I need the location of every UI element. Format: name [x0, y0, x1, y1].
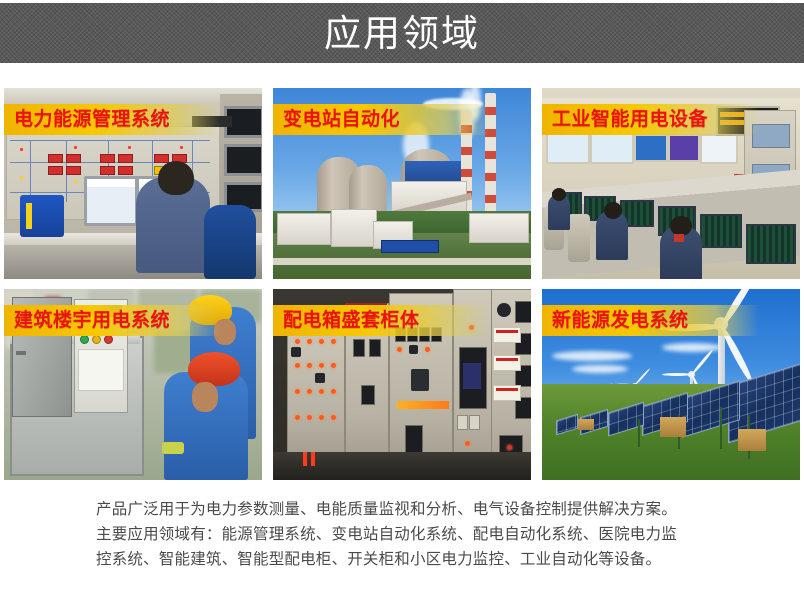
application-tile-grid: 电力能源管理系统 [4, 88, 800, 480]
tile-caption: 配电箱盛套柜体 [273, 305, 490, 336]
page-title: 应用领域 [324, 15, 480, 52]
description-paragraph: 产品广泛用于为电力参数测量、电能质量监视和分析、电气设备控制提供解决方案。 主要… [96, 497, 736, 572]
tile-caption: 工业智能用电设备 [542, 104, 759, 135]
description-line-3: 控系统、智能建筑、智能型配电柜、开关柜和小区电力监控、工业自动化等设备。 [96, 547, 736, 572]
description-line-1: 产品广泛用于为电力参数测量、电能质量监视和分析、电气设备控制提供解决方案。 [96, 497, 736, 522]
tile-distribution-box-cabinet[interactable]: 配电箱盛套柜体 [273, 289, 531, 480]
tile-caption: 建筑楼宇用电系统 [4, 305, 221, 336]
description-line-2: 主要应用领域有：能源管理系统、变电站自动化系统、配电自动化系统、医院电力监 [96, 522, 736, 547]
tile-new-energy-power-generation-system[interactable]: 新能源发电系统 [542, 289, 800, 480]
tile-industrial-smart-power-equipment[interactable]: 工业智能用电设备 [542, 88, 800, 279]
tile-power-energy-management-system[interactable]: 电力能源管理系统 [4, 88, 262, 279]
tile-caption: 新能源发电系统 [542, 305, 759, 336]
tile-building-electricity-system[interactable]: 建筑楼宇用电系统 [4, 289, 262, 480]
tile-caption: 变电站自动化 [273, 104, 490, 135]
tile-caption: 电力能源管理系统 [4, 104, 221, 135]
application-fields-page: 应用领域 [0, 0, 804, 597]
page-header-banner: 应用领域 [0, 3, 804, 63]
tile-substation-automation[interactable]: 变电站自动化 [273, 88, 531, 279]
